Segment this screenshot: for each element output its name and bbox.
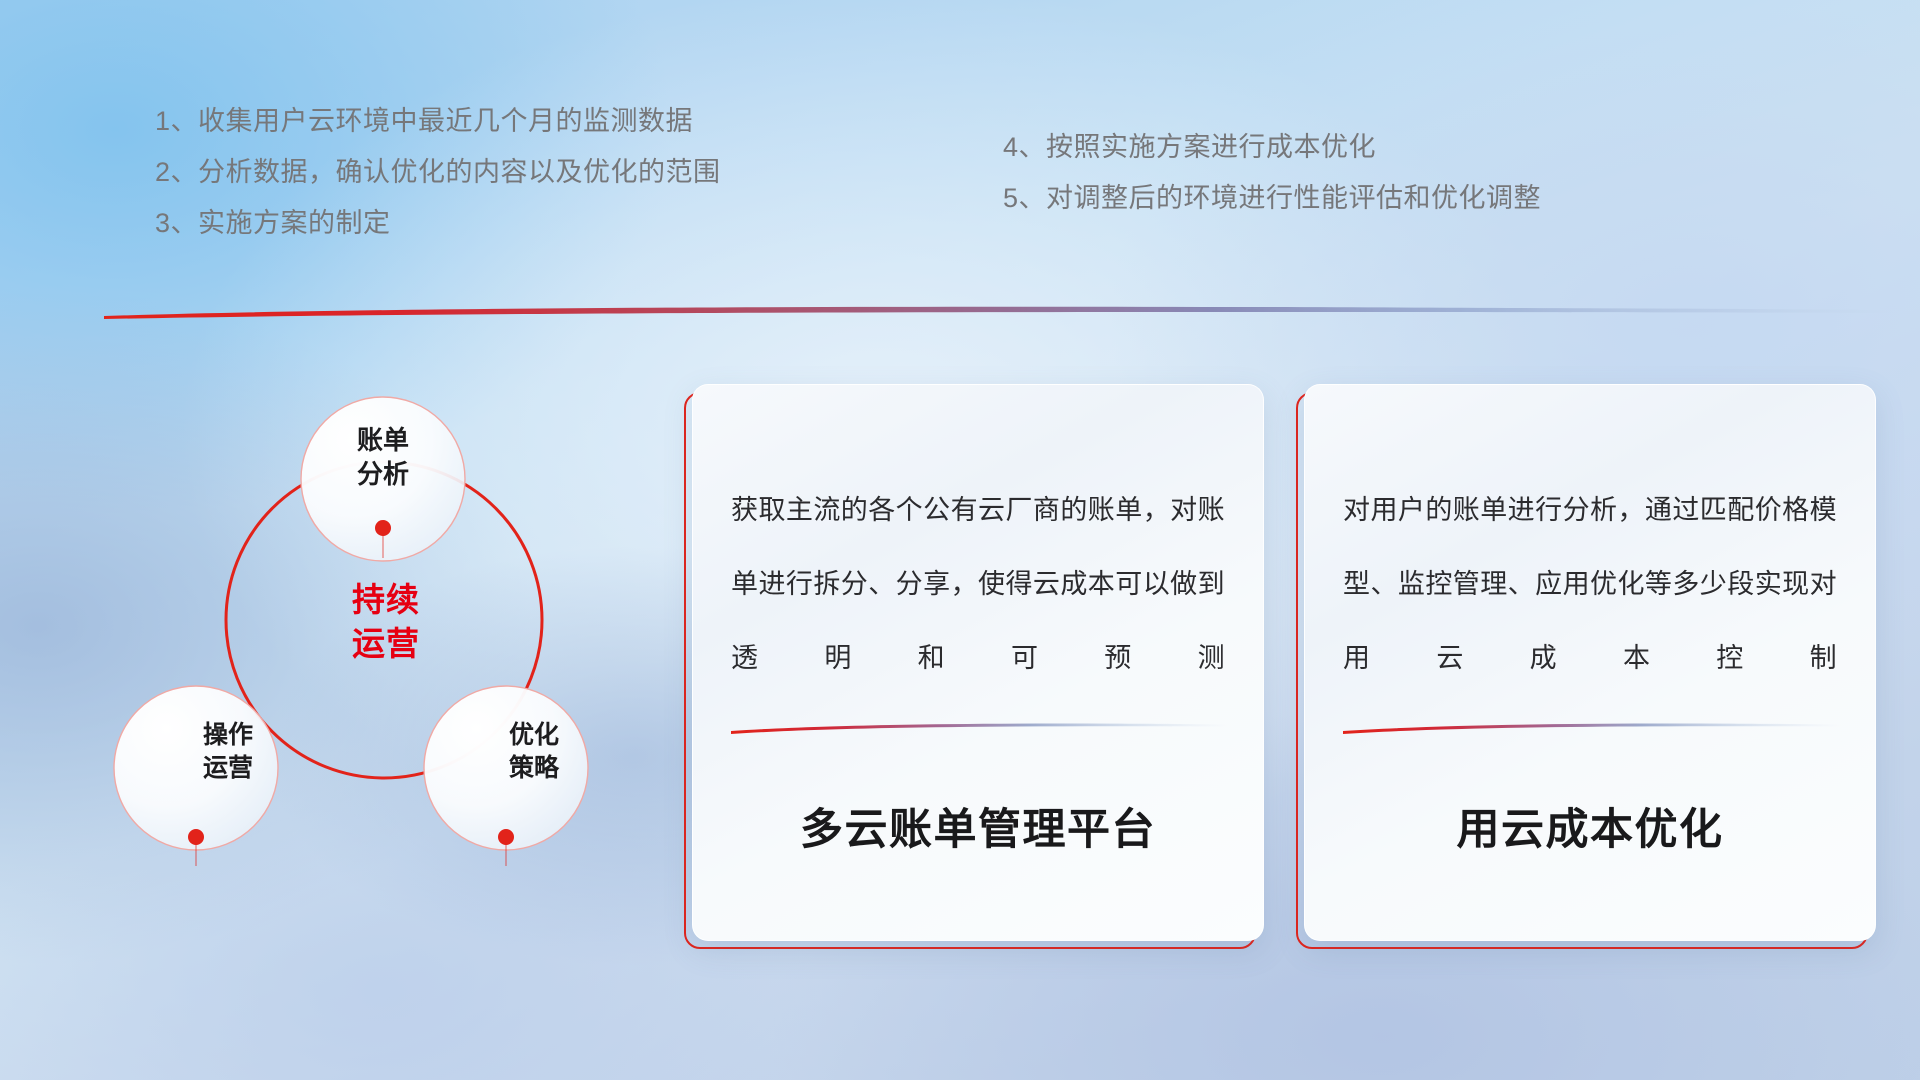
card-rule — [731, 723, 1229, 735]
feature-card[interactable]: 获取主流的各个公有云厂商的账单，对账单进行拆分、分享，使得云成本可以做到透明和可… — [684, 384, 1264, 949]
steps-list-right: 4、按照实施方案进行成本优化 5、对调整后的环境进行性能评估和优化调整 — [1003, 122, 1541, 224]
step-item: 4、按照实施方案进行成本优化 — [1003, 122, 1541, 173]
feature-card[interactable]: 对用户的账单进行分析，通过匹配价格模型、监控管理、应用优化等多少段实现对用云成本… — [1296, 384, 1876, 949]
card-rule — [1343, 723, 1841, 735]
card-title: 用云成本优化 — [1343, 795, 1837, 857]
section-divider — [104, 306, 1894, 320]
card-description: 获取主流的各个公有云厂商的账单，对账单进行拆分、分享，使得云成本可以做到透明和可… — [731, 473, 1225, 695]
node-dot-ops — [188, 829, 204, 845]
node-dot-bill — [375, 520, 391, 536]
card-description: 对用户的账单进行分析，通过匹配价格模型、监控管理、应用优化等多少段实现对用云成本… — [1343, 473, 1837, 695]
step-item: 2、分析数据，确认优化的内容以及优化的范围 — [155, 147, 721, 198]
venn-label-core: 持续 运营 — [296, 578, 476, 666]
card-body: 获取主流的各个公有云厂商的账单，对账单进行拆分、分享，使得云成本可以做到透明和可… — [692, 384, 1264, 941]
venn-label-ops: 操作 运营 — [138, 719, 318, 784]
card-body: 对用户的账单进行分析，通过匹配价格模型、监控管理、应用优化等多少段实现对用云成本… — [1304, 384, 1876, 941]
steps-list-left: 1、收集用户云环境中最近几个月的监测数据 2、分析数据，确认优化的内容以及优化的… — [155, 96, 721, 249]
venn-label-bill: 账单 分析 — [293, 424, 473, 492]
venn-label-opt: 优化 策略 — [444, 719, 624, 784]
step-item: 5、对调整后的环境进行性能评估和优化调整 — [1003, 173, 1541, 224]
step-item: 3、实施方案的制定 — [155, 198, 721, 249]
card-title: 多云账单管理平台 — [731, 795, 1225, 857]
continuous-operations-diagram: 账单 分析 操作 运营 优化 策略 持续 运营 — [96, 348, 656, 948]
step-item: 1、收集用户云环境中最近几个月的监测数据 — [155, 96, 721, 147]
node-dot-opt — [498, 829, 514, 845]
